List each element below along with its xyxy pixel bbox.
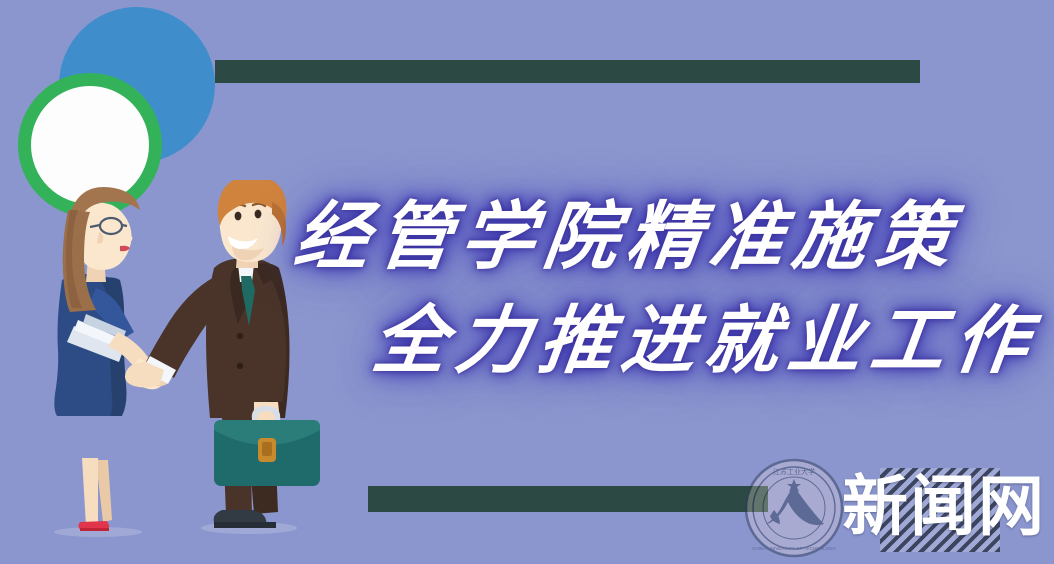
bottom-accent-bar <box>368 486 768 512</box>
watermark-group: 江苏工业大学 CHINA UNIVERSITY OF TECHNOLOGY 新闻… <box>736 452 1054 564</box>
seal-top-text: 江苏工业大学 <box>773 467 815 476</box>
banner-image: 经管学院精准施策 全力推进就业工作 江苏工业大学 CHINA UNIVERSIT… <box>0 0 1054 564</box>
university-seal-logo: 江苏工业大学 CHINA UNIVERSITY OF TECHNOLOGY <box>744 458 844 558</box>
handshake-illustration <box>0 180 340 564</box>
watermark-text: 新闻网 <box>842 472 1046 544</box>
title-line-2: 全力推进就业工作 <box>367 290 982 394</box>
banner-title: 经管学院精准施策 全力推进就业工作 <box>295 186 975 394</box>
top-accent-bar <box>215 60 920 83</box>
seal-bottom-text: CHINA UNIVERSITY OF TECHNOLOGY <box>752 546 836 551</box>
title-line-1: 经管学院精准施策 <box>289 186 982 290</box>
